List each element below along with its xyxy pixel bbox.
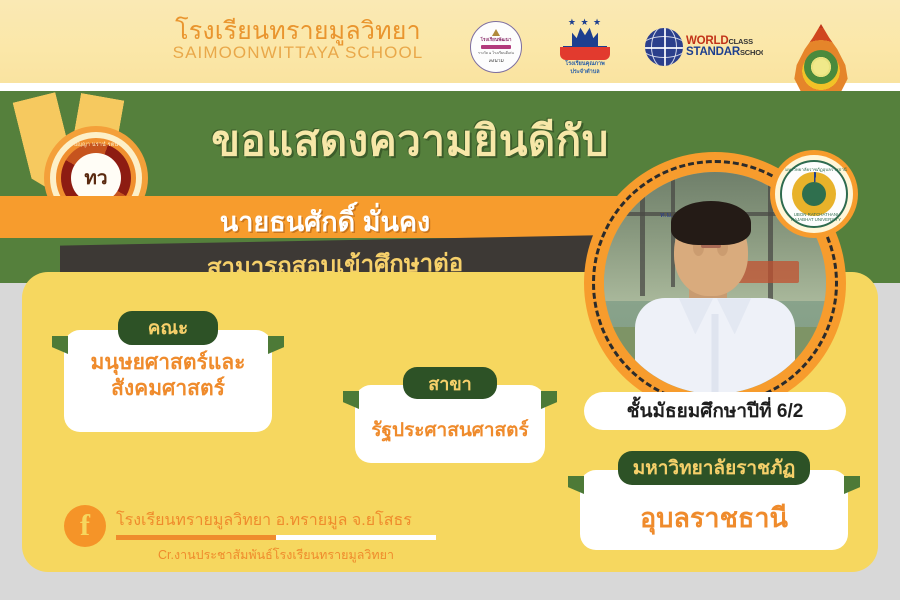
footer-divider-orange [116, 535, 276, 540]
world-class-text-block: WORLDCLASS STANDARSCHOOL [686, 36, 763, 59]
footer-divider [116, 535, 436, 540]
rajabhat-seal-icon [792, 172, 836, 216]
university-card: มหาวิทยาลัยราชภัฏ อุบลราชธานี [580, 470, 848, 550]
book-base-icon [560, 47, 610, 60]
university-tab-label: มหาวิทยาลัยราชภัฏ [618, 451, 810, 485]
shirt-collar-left [679, 298, 713, 334]
award-rosette: ทว ปญฺญา นรานํ รตนํ โรงเรียนทรายมูลวิทยา [20, 88, 142, 203]
student-name: นายธนศักดิ์ มั่นคง [110, 200, 540, 243]
university-seal-arc-bottom: UBON RATCHATHANI RAJABHAT UNIVERSITY [782, 212, 850, 222]
accreditation-stamp-logo: โรงเรียนพัฒนา รางวัล ๑ โรงเรียนดีเด่น ลง… [470, 21, 522, 73]
accreditation-logo-line2: รางวัล ๑ โรงเรียนดีเด่น [478, 50, 514, 56]
crown-icon [572, 26, 598, 48]
footer-credit: Cr.งานประชาสัมพันธ์โรงเรียนทรายมูลวิทยา [116, 545, 436, 565]
header-band [0, 0, 900, 83]
world-class-standard-school-logo: WORLDCLASS STANDARSCHOOL [645, 24, 763, 70]
school-name-block: โรงเรียนทรายมูลวิทยา SAIMOONWITTAYA SCHO… [148, 18, 448, 62]
school-name-english: SAIMOONWITTAYA SCHOOL [148, 44, 448, 62]
congratulations-poster: โรงเรียนทรายมูลวิทยา SAIMOONWITTAYA SCHO… [0, 0, 900, 600]
student-photo-frame: ท.ม. มหาวิทยาลัยราชภัฏอุบลราชธานี UBON R… [584, 152, 846, 414]
student-hair [671, 201, 751, 245]
facebook-icon[interactable]: f [64, 505, 106, 547]
faculty-tab-label: คณะ [118, 311, 218, 345]
quality-school-caption-line2: ประจำตำบล [570, 69, 599, 76]
quality-school-logo: ★ ★ ★ โรงเรียนคุณภาพ ประจำตำบล [552, 14, 618, 80]
dharma-wheel-icon [804, 50, 838, 84]
wcss-word-school: SCHOOL [740, 48, 763, 57]
globe-icon [645, 28, 683, 66]
grade-level-badge: ชั้นมัธยมศึกษาปีที่ 6/2 [584, 392, 846, 430]
wcss-word-worl: WORL [686, 35, 720, 47]
branch-card: สาขา รัฐประศาสนศาสตร์ [355, 385, 545, 463]
branch-tab-label: สาขา [403, 367, 497, 399]
mouth [701, 244, 721, 248]
accreditation-logo-line1: โรงเรียนพัฒนา [480, 37, 511, 44]
wcss-word-class: CLASS [728, 37, 752, 46]
shirt-collar-right [717, 298, 751, 334]
photo-bg-post [640, 172, 645, 296]
quality-school-emblem [557, 26, 613, 60]
footer-divider-white [276, 535, 436, 540]
world-class-line2: STANDARSCHOOL [686, 47, 763, 59]
footer-address: โรงเรียนทรายมูลวิทยา อ.ทรายมูล จ.ยโสธร [116, 508, 456, 533]
shirt-placket [712, 314, 719, 394]
university-seal-badge: มหาวิทยาลัยราชภัฏอุบลราชธานี UBON RATCHA… [770, 150, 858, 238]
stars-icon: ★ ★ ★ [568, 18, 602, 26]
student-shirt [635, 298, 795, 394]
crown-icon [492, 29, 500, 36]
faculty-value-line1: มนุษยศาสตร์และ [64, 350, 272, 376]
quality-school-caption-line1: โรงเรียนคุณภาพ [565, 61, 605, 68]
university-value: อุบลราชธานี [580, 496, 848, 539]
branch-value: รัฐประศาสนศาสตร์ [355, 415, 545, 445]
flame-emblem-icon [792, 24, 850, 100]
accreditation-logo-signature: ลงนาม [488, 57, 503, 65]
university-seal-arc-top: มหาวิทยาลัยราชภัฏอุบลราชธานี [782, 166, 850, 173]
wcss-word-standard: STANDAR [686, 46, 740, 58]
school-name-thai: โรงเรียนทรายมูลวิทยา [148, 18, 448, 44]
accreditation-logo-bar [481, 45, 511, 49]
ministry-of-education-emblem [790, 22, 852, 102]
faculty-card: คณะ มนุษยศาสตร์และ สังคมศาสตร์ [64, 330, 272, 432]
faculty-value-line2: สังคมศาสตร์ [64, 376, 272, 402]
faculty-value: มนุษยศาสตร์และ สังคมศาสตร์ [64, 350, 272, 403]
school-seal-arc-top: ปญฺญา นรานํ รตนํ [44, 141, 148, 149]
